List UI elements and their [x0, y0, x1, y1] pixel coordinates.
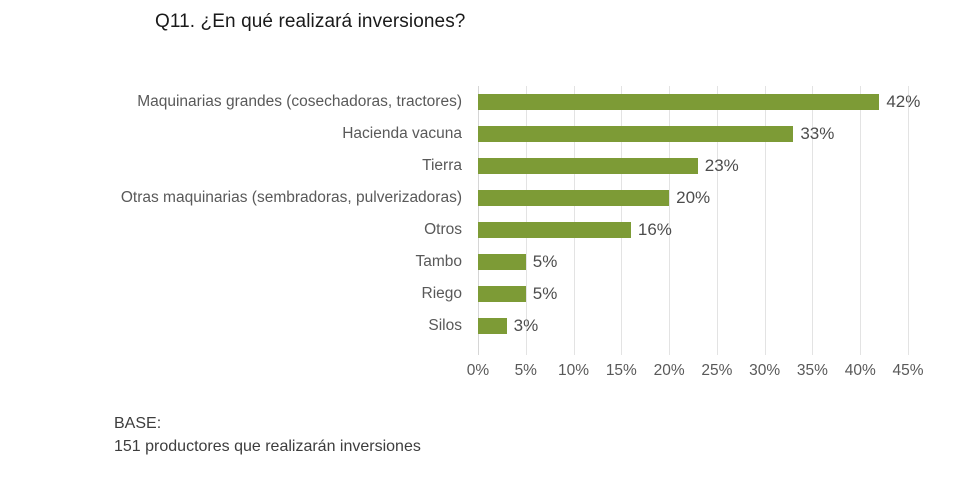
bar-row[interactable]: 42%	[478, 94, 908, 110]
x-tick-label: 30%	[749, 362, 780, 380]
x-axis-tick-labels: 0%5%10%15%20%25%30%35%40%45%	[478, 362, 908, 384]
bar[interactable]	[478, 318, 507, 334]
bar-value-label: 33%	[793, 124, 834, 144]
x-tick-label: 20%	[654, 362, 685, 380]
base-note: BASE: 151 productores que realizarán inv…	[114, 412, 421, 458]
base-description: 151 productores que realizarán inversion…	[114, 435, 421, 458]
bar-value-label: 16%	[631, 220, 672, 240]
bar[interactable]	[478, 222, 631, 238]
x-tick-label: 45%	[892, 362, 923, 380]
base-label: BASE:	[114, 412, 421, 435]
category-label: Tierra	[0, 158, 470, 174]
bar[interactable]	[478, 286, 526, 302]
x-tick-label: 10%	[558, 362, 589, 380]
bar-value-label: 20%	[669, 188, 710, 208]
category-label: Otros	[0, 222, 470, 238]
bar-row[interactable]: 23%	[478, 158, 908, 174]
category-label: Otras maquinarias (sembradoras, pulveriz…	[0, 190, 470, 206]
bar-row[interactable]: 16%	[478, 222, 908, 238]
bar-chart-figure: Q11. ¿En qué realizará inversiones? Maqu…	[0, 0, 973, 477]
bar-row[interactable]: 5%	[478, 254, 908, 270]
bar[interactable]	[478, 94, 879, 110]
category-label: Silos	[0, 318, 470, 334]
category-label: Tambo	[0, 254, 470, 270]
category-label: Hacienda vacuna	[0, 126, 470, 142]
x-tick-label: 40%	[845, 362, 876, 380]
bar-value-label: 3%	[507, 316, 539, 336]
x-tick-label: 25%	[701, 362, 732, 380]
bar-row[interactable]: 3%	[478, 318, 908, 334]
bar-row[interactable]: 20%	[478, 190, 908, 206]
bars-layer: 42%33%23%20%16%5%5%3%	[478, 86, 973, 355]
x-tick-label: 35%	[797, 362, 828, 380]
plot-wrapper: Maquinarias grandes (cosechadoras, tract…	[0, 0, 973, 477]
bar-row[interactable]: 5%	[478, 286, 908, 302]
category-label: Maquinarias grandes (cosechadoras, tract…	[0, 94, 470, 110]
bar-value-label: 23%	[698, 156, 739, 176]
bar-value-label: 5%	[526, 252, 558, 272]
bar[interactable]	[478, 254, 526, 270]
bar-value-label: 42%	[879, 92, 920, 112]
category-axis-labels: Maquinarias grandes (cosechadoras, tract…	[0, 86, 470, 355]
bar[interactable]	[478, 190, 669, 206]
bar[interactable]	[478, 158, 698, 174]
x-tick-label: 0%	[467, 362, 489, 380]
bar-value-label: 5%	[526, 284, 558, 304]
bar[interactable]	[478, 126, 793, 142]
x-tick-label: 15%	[606, 362, 637, 380]
bar-row[interactable]: 33%	[478, 126, 908, 142]
category-label: Riego	[0, 286, 470, 302]
x-tick-label: 5%	[515, 362, 537, 380]
